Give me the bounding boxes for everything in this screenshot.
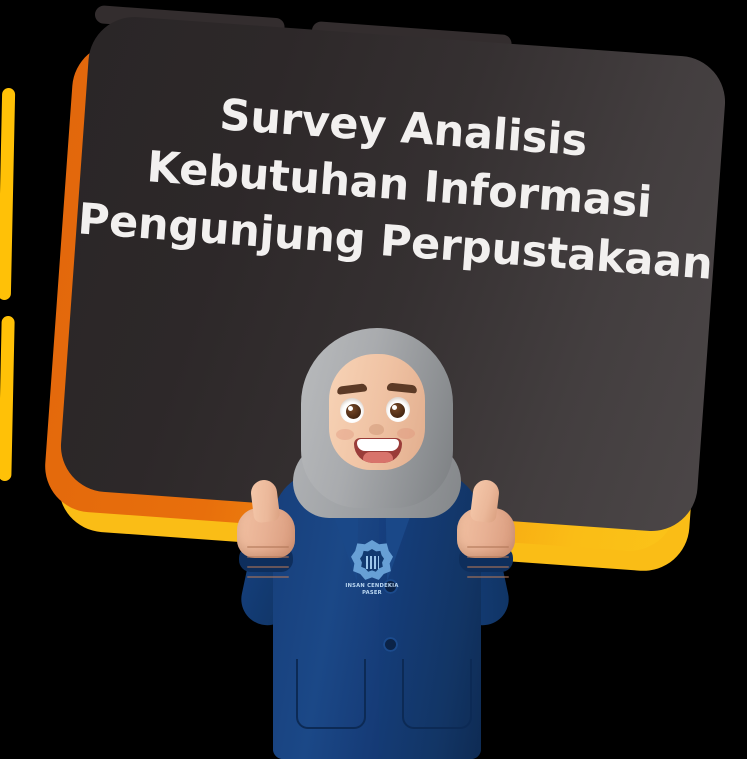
teeth xyxy=(357,439,399,451)
librarian-mascot-illustration: INSAN CENDEKIA PASER xyxy=(197,322,557,759)
cheek-left xyxy=(336,429,354,440)
knuckle-line xyxy=(467,546,509,548)
accent-bar-lower-decoration xyxy=(0,316,15,481)
knuckle-line xyxy=(247,566,289,568)
badge-text-line-2: PASER xyxy=(339,590,405,596)
thumb-left xyxy=(250,479,281,524)
thumbs-up-hand-right xyxy=(455,480,517,558)
poster-canvas: Survey Analisis Kebutuhan Informasi Peng… xyxy=(0,0,747,759)
knuckle-line xyxy=(467,566,509,568)
blazer-pocket-left xyxy=(296,659,366,729)
knuckle-line xyxy=(247,546,289,548)
badge-text-line-1: INSAN CENDEKIA xyxy=(339,583,405,589)
accent-bar-upper-decoration xyxy=(0,88,15,300)
emblem-pillars-icon xyxy=(366,556,379,569)
school-badge: INSAN CENDEKIA PASER xyxy=(339,540,405,604)
cheek-right xyxy=(397,428,415,439)
thumb-right xyxy=(470,479,501,524)
tongue xyxy=(363,452,393,463)
blazer-pocket-right xyxy=(402,659,472,729)
knuckle-line xyxy=(467,556,509,558)
eye-glint-left xyxy=(348,406,353,411)
thumbs-up-hand-left xyxy=(235,480,297,558)
school-emblem-icon xyxy=(351,540,393,582)
nose xyxy=(369,424,384,435)
eye-glint-right xyxy=(392,405,397,410)
knuckle-line xyxy=(247,556,289,558)
blazer-button-lower xyxy=(383,637,398,652)
knuckle-line xyxy=(247,576,289,578)
knuckle-line xyxy=(467,576,509,578)
